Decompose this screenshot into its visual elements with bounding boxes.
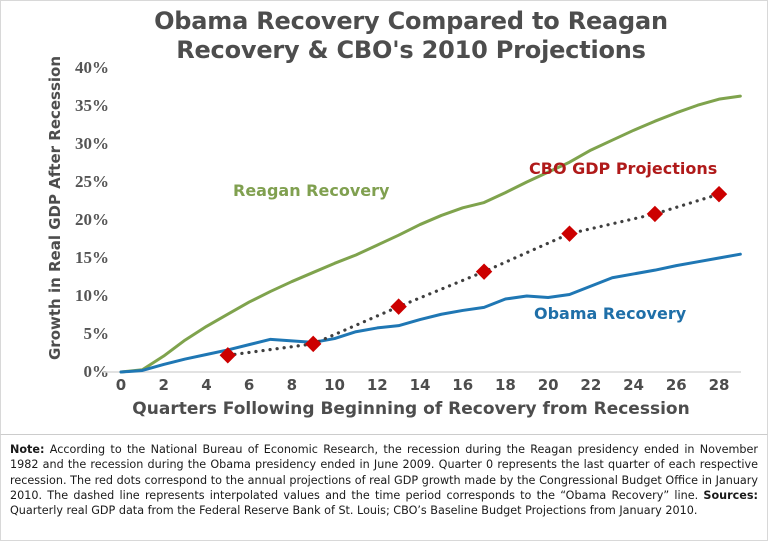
note-text: Note: According to the National Bureau o…	[10, 442, 758, 518]
series-label-obama: Obama Recovery	[534, 304, 686, 323]
cbo-marker-diamond	[562, 226, 577, 241]
sources-label: Sources:	[703, 489, 758, 502]
cbo-marker-diamond	[477, 264, 492, 279]
chart-page: Obama Recovery Compared to Reagan Recove…	[0, 0, 768, 541]
cbo-marker-diamond	[712, 187, 727, 202]
cbo-marker-diamond	[306, 336, 321, 351]
note-body-2: Quarterly real GDP data from the Federal…	[10, 504, 697, 517]
series-label-cbo: CBO GDP Projections	[529, 159, 717, 178]
note-body-1: According to the National Bureau of Econ…	[10, 443, 758, 502]
cbo-marker-diamond	[647, 206, 662, 221]
cbo-marker-diamond	[391, 299, 406, 314]
plot-area	[1, 1, 768, 434]
note-label: Note:	[10, 443, 44, 456]
note-panel: Note: According to the National Bureau o…	[0, 434, 768, 541]
line-reagan-recovery	[121, 96, 740, 372]
line-cbo-projections	[228, 194, 719, 355]
chart-panel: Obama Recovery Compared to Reagan Recove…	[0, 0, 768, 434]
series-label-reagan: Reagan Recovery	[233, 181, 389, 200]
